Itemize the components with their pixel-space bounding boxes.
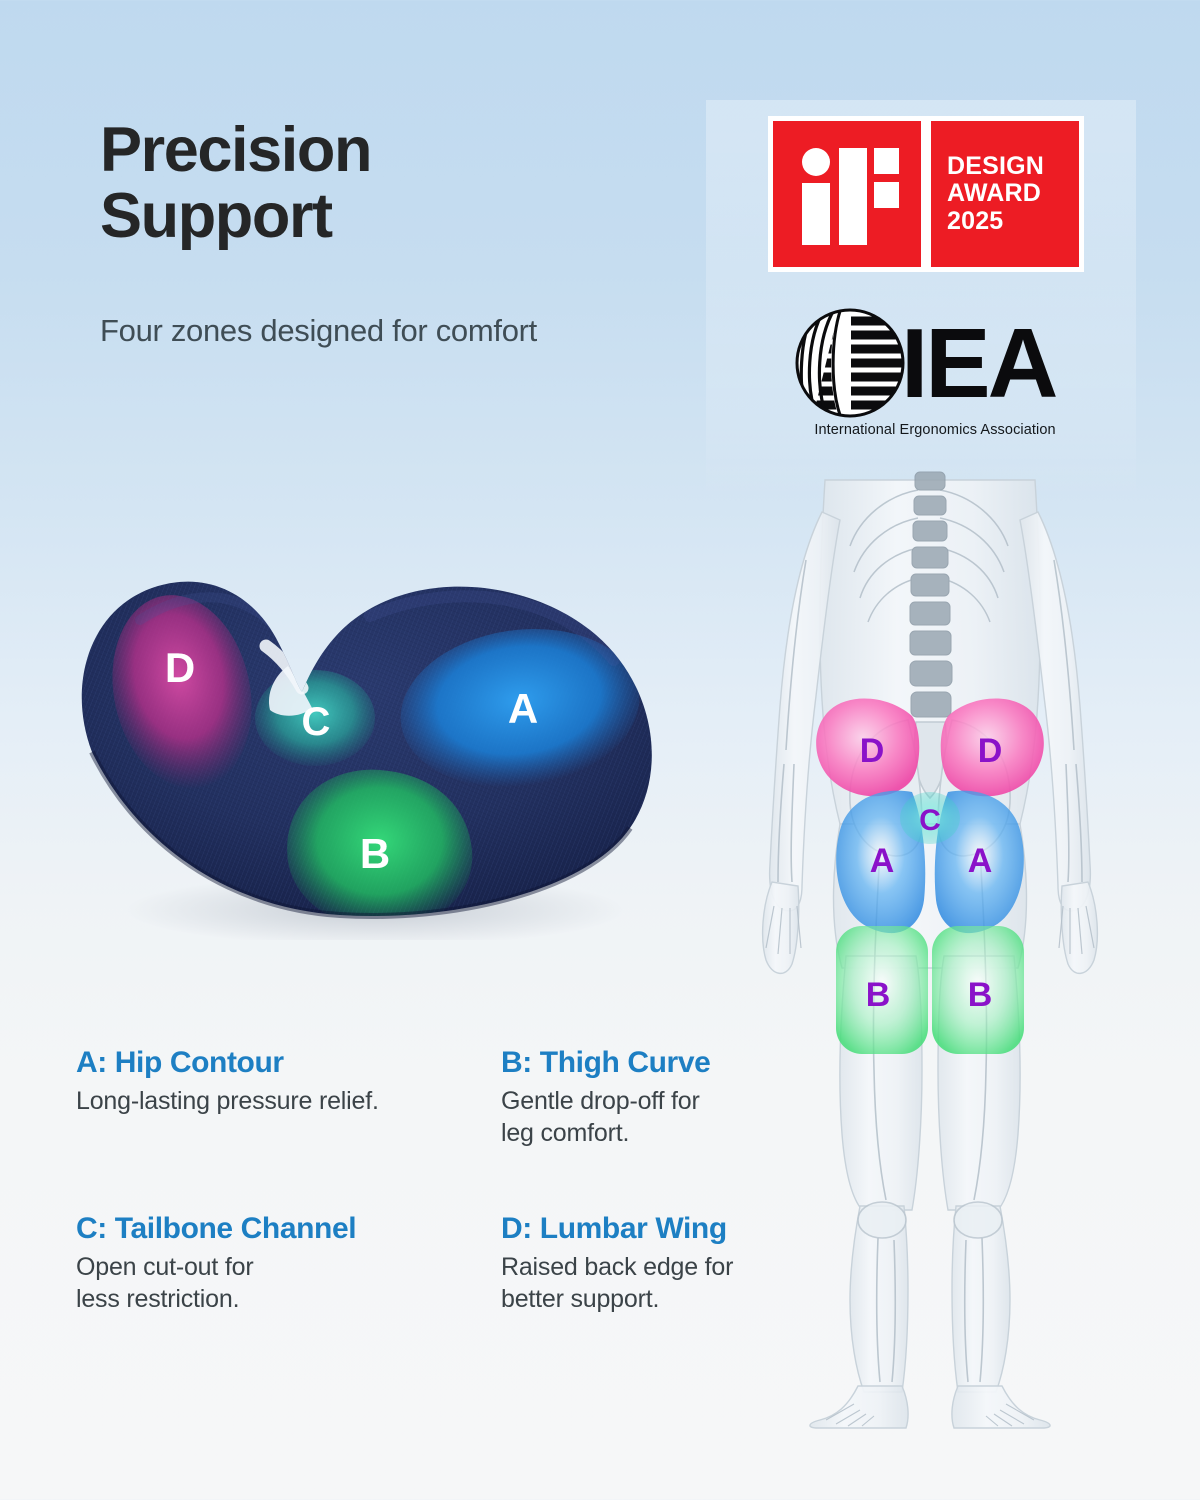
if-logo-square-top	[874, 148, 899, 174]
if-logo-square-bottom	[874, 182, 899, 208]
cushion-label-c: C	[302, 700, 331, 744]
legend-desc-d-line-1: Raised back edge for	[501, 1252, 841, 1284]
anatomy-label-a-left: A	[870, 842, 895, 880]
zone-legend: A: Hip Contour Long-lasting pressure rel…	[76, 1046, 836, 1315]
if-badge-divider	[921, 121, 931, 267]
cushion-illustration: D C A B	[30, 470, 690, 940]
if-logo-icon	[773, 121, 921, 267]
if-badge-line-award: AWARD	[947, 180, 1079, 208]
legend-desc-c-line-1: Open cut-out for	[76, 1252, 501, 1284]
anatomy-label-d-right: D	[978, 732, 1003, 770]
legend-desc-b-line-1: Gentle drop-off for	[501, 1086, 841, 1118]
anatomy-label-d-left: D	[860, 732, 885, 770]
legend-desc-b-line-2: leg comfort.	[501, 1118, 841, 1150]
legend-title-d: D: Lumbar Wing	[501, 1212, 841, 1246]
if-badge-text: DESIGN AWARD 2025	[931, 121, 1079, 267]
if-logo-stem	[802, 183, 830, 245]
legend-desc-c-line-2: less restriction.	[76, 1284, 501, 1316]
anatomy-label-b-left: B	[866, 976, 891, 1014]
legend-item-b: B: Thigh Curve Gentle drop-off for leg c…	[501, 1046, 841, 1149]
legend-desc-b: Gentle drop-off for leg comfort.	[501, 1086, 841, 1149]
legend-item-a: A: Hip Contour Long-lasting pressure rel…	[76, 1046, 501, 1149]
cushion-label-b: B	[360, 830, 390, 877]
anatomy-label-c: C	[919, 804, 941, 837]
anatomy-label-b-right: B	[968, 976, 993, 1014]
cushion-label-d: D	[165, 644, 195, 691]
if-logo-bar	[839, 148, 867, 245]
if-logo-dot	[802, 148, 830, 176]
legend-title-c: C: Tailbone Channel	[76, 1212, 501, 1246]
legend-desc-a: Long-lasting pressure relief.	[76, 1086, 501, 1118]
iea-letters: IEA	[901, 314, 1055, 412]
legend-desc-d-line-2: better support.	[501, 1284, 841, 1316]
legend-desc-d: Raised back edge for better support.	[501, 1252, 841, 1315]
title-line-2: Support	[100, 184, 720, 250]
legend-item-c: C: Tailbone Channel Open cut-out for les…	[76, 1212, 501, 1315]
legend-title-b: B: Thigh Curve	[501, 1046, 841, 1080]
legend-item-d: D: Lumbar Wing Raised back edge for bett…	[501, 1212, 841, 1315]
legend-desc-a-line-1: Long-lasting pressure relief.	[76, 1086, 501, 1118]
legend-desc-c: Open cut-out for less restriction.	[76, 1252, 501, 1315]
page-title: Precision Support	[100, 118, 720, 249]
legend-title-a: A: Hip Contour	[76, 1046, 501, 1080]
cushion-label-a: A	[508, 685, 538, 732]
title-line-1: Precision	[100, 118, 720, 184]
if-design-award-badge: DESIGN AWARD 2025	[768, 116, 1084, 272]
if-badge-line-year: 2025	[947, 208, 1079, 236]
if-badge-line-design: DESIGN	[947, 153, 1079, 181]
iea-globe-icon	[795, 308, 907, 418]
page-subtitle: Four zones designed for comfort	[100, 313, 537, 349]
cushion-svg: D C A B	[30, 470, 690, 940]
anatomy-label-a-right: A	[968, 842, 993, 880]
